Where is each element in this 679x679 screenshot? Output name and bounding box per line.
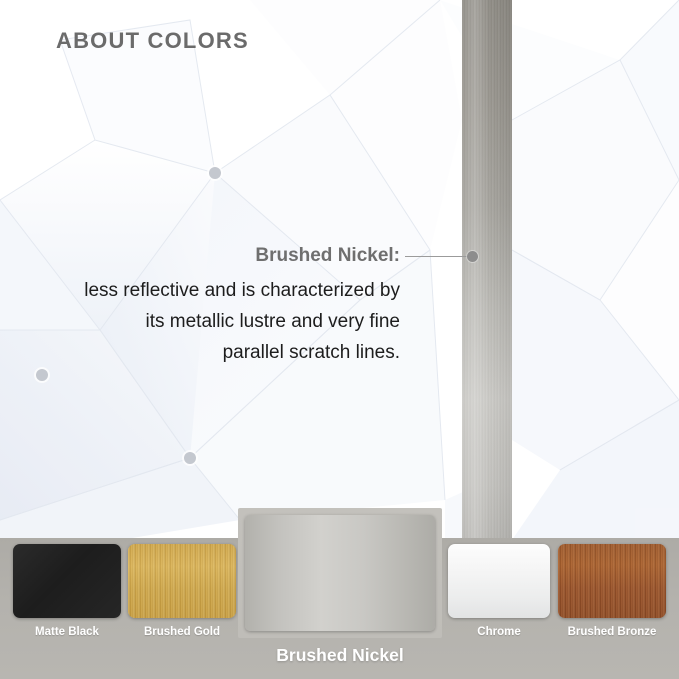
callout-line-2: its metallic lustre and very fine xyxy=(40,306,400,337)
brushed-nickel-strip xyxy=(462,0,512,540)
swatch-label-brushed-bronze: Brushed Bronze xyxy=(558,626,666,638)
accent-dot xyxy=(36,369,48,381)
accent-dot xyxy=(184,452,196,464)
swatch-brushed-bronze[interactable] xyxy=(558,544,666,618)
callout-text-block: Brushed Nickel: less reflective and is c… xyxy=(40,240,400,368)
callout-leader-line xyxy=(405,256,467,257)
swatch-label-brushed-gold: Brushed Gold xyxy=(128,626,236,638)
swatch-label-brushed-nickel: Brushed Nickel xyxy=(238,645,442,666)
swatch-label-matte-black: Matte Black xyxy=(13,626,121,638)
callout-endpoint-dot xyxy=(467,251,478,262)
swatch-grain-texture xyxy=(13,544,121,618)
swatch-label-chrome: Chrome xyxy=(448,626,550,638)
callout-line-1: less reflective and is characterized by xyxy=(40,275,400,306)
swatch-chrome[interactable] xyxy=(448,544,550,618)
callout-line-3: parallel scratch lines. xyxy=(40,337,400,368)
swatch-grain-texture xyxy=(558,544,666,618)
callout-title: Brushed Nickel: xyxy=(40,240,400,272)
swatch-grain-texture xyxy=(128,544,236,618)
page-title: ABOUT COLORS xyxy=(56,28,249,54)
swatch-brushed-gold[interactable] xyxy=(128,544,236,618)
swatch-grain-texture xyxy=(448,544,550,618)
about-colors-graphic: ABOUT COLORS Brushed Nickel: less reflec… xyxy=(0,0,679,679)
strip-sheen-overlay xyxy=(462,0,512,540)
accent-dot xyxy=(209,167,221,179)
swatch-brushed-nickel[interactable] xyxy=(245,515,435,631)
callout-description: less reflective and is characterized by … xyxy=(40,275,400,368)
swatch-matte-black[interactable] xyxy=(13,544,121,618)
